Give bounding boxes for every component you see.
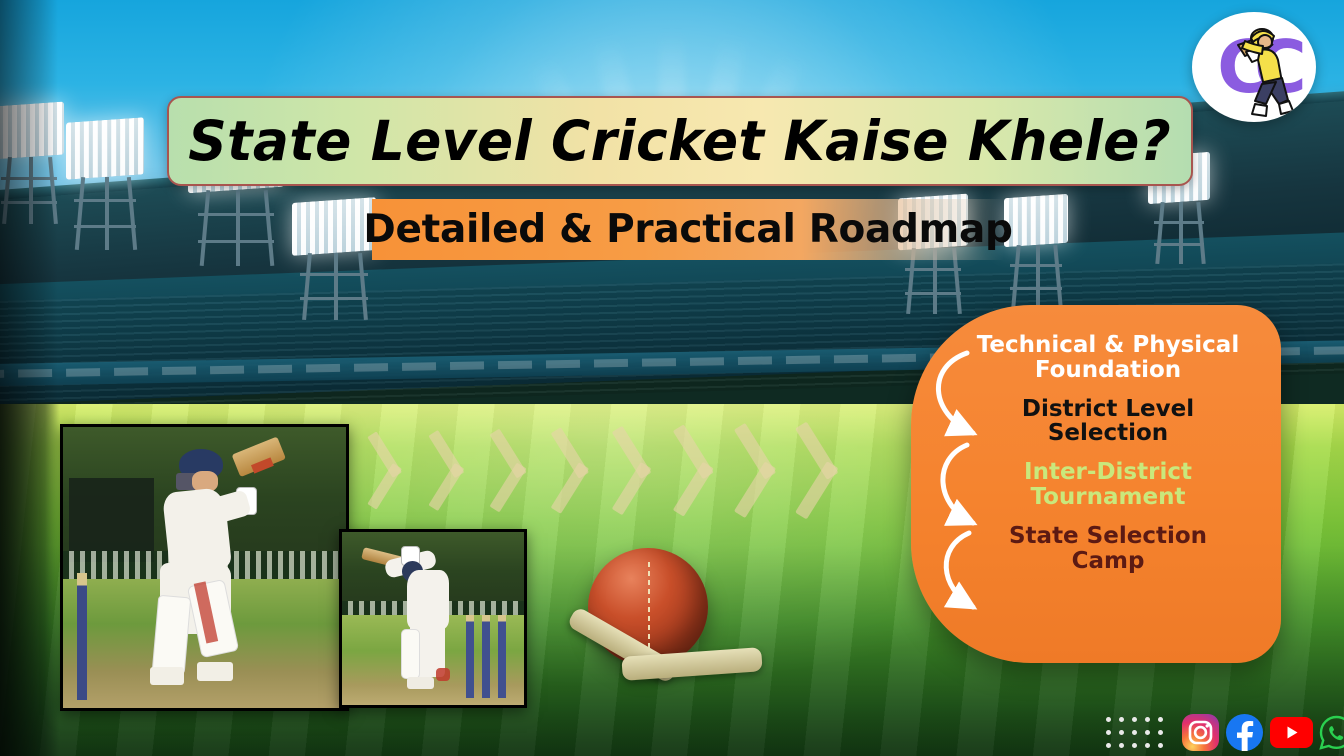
ad-tick	[738, 356, 772, 365]
grid-dot	[1158, 730, 1163, 735]
grid-dot	[1145, 717, 1150, 722]
grid-dot	[1106, 717, 1111, 722]
ad-tick	[0, 370, 4, 379]
roadmap-step: District LevelSelection	[955, 397, 1261, 447]
youtube-icon[interactable]	[1270, 717, 1313, 748]
roadmap-panel: Technical & PhysicalFoundationDistrict L…	[911, 305, 1281, 663]
cc-cricket-logo[interactable]: CC	[1192, 12, 1316, 122]
whatsapp-icon[interactable]	[1318, 714, 1344, 751]
ad-tick	[642, 358, 676, 367]
floodlight-tower	[0, 104, 64, 224]
batsman-figure	[142, 449, 272, 685]
ad-tick	[354, 363, 388, 372]
page-title: State Level Cricket Kaise Khele?	[189, 109, 1172, 173]
chevron-icon	[826, 416, 838, 525]
chevron-icon	[392, 427, 402, 514]
ad-tick	[210, 366, 244, 375]
ad-tick	[882, 354, 916, 363]
ad-tick	[690, 357, 724, 366]
floodlight-tower	[1004, 196, 1068, 308]
grid-dot	[1145, 730, 1150, 735]
chevron-icon	[640, 421, 651, 521]
roadmap-step-line2: Foundation	[955, 358, 1261, 383]
ad-tick	[306, 364, 340, 373]
floodlight-tower	[66, 120, 144, 250]
grid-dot	[1106, 743, 1111, 748]
roadmap-step: State SelectionCamp	[955, 524, 1261, 574]
batsman-figure	[389, 546, 469, 695]
chevron-icon	[764, 417, 776, 523]
left-shadow-band-lower	[0, 404, 60, 756]
roadmap-step: Technical & PhysicalFoundation	[955, 333, 1261, 383]
ad-tick	[66, 368, 100, 377]
chevron-icon	[578, 422, 589, 519]
ad-tick	[498, 361, 532, 370]
dot-grid-icon	[1106, 717, 1168, 749]
grid-dot	[1132, 730, 1137, 735]
ad-tick	[786, 356, 820, 365]
instagram-icon[interactable]	[1182, 714, 1219, 751]
ad-tick	[402, 362, 436, 371]
ad-tick	[18, 369, 52, 378]
roadmap-step-line2: Selection	[955, 421, 1261, 446]
chevron-icon	[454, 425, 464, 515]
thumbnail-canvas: State Level Cricket Kaise Khele? Detaile…	[0, 0, 1344, 756]
subtitle-banner: Detailed & Practical Roadmap	[372, 199, 1004, 260]
ad-tick	[1314, 346, 1344, 355]
roadmap-step-line1: State Selection	[1009, 523, 1207, 549]
grid-dot	[1119, 730, 1124, 735]
stump	[77, 573, 87, 699]
ad-tick	[114, 367, 148, 376]
ad-tick	[162, 366, 196, 375]
cricket-ball-and-bails	[560, 548, 770, 738]
ad-tick	[594, 359, 628, 368]
grid-dot	[1119, 743, 1124, 748]
grid-dot	[1158, 717, 1163, 722]
main-title-box: State Level Cricket Kaise Khele?	[167, 96, 1193, 186]
roadmap-step: Inter-DistrictTournament	[955, 460, 1261, 510]
roadmap-step-line1: District Level	[1022, 396, 1194, 422]
ad-tick	[258, 365, 292, 374]
stumps	[466, 615, 513, 698]
grid-dot	[1132, 717, 1137, 722]
grid-dot	[1132, 743, 1137, 748]
social-links-bar	[1098, 709, 1344, 756]
ad-tick	[450, 361, 484, 370]
grid-dot	[1119, 717, 1124, 722]
batsman-cut-shot-photo	[60, 424, 349, 711]
chevron-icon	[516, 424, 527, 517]
roadmap-step-line2: Camp	[955, 549, 1261, 574]
grid-dot	[1145, 743, 1150, 748]
roadmap-step-line1: Inter-District	[1024, 459, 1192, 485]
chevron-icon	[702, 419, 714, 522]
roadmap-step-list: Technical & PhysicalFoundationDistrict L…	[955, 333, 1261, 588]
roadmap-step-line2: Tournament	[955, 485, 1261, 510]
page-subtitle: Detailed & Practical Roadmap	[363, 207, 1012, 252]
grid-dot	[1106, 730, 1111, 735]
batsman-follow-through-photo	[339, 529, 527, 708]
batsman-logo-icon	[1192, 12, 1316, 122]
grid-dot	[1158, 743, 1163, 748]
ad-tick	[834, 355, 868, 364]
chevron-arrow-row	[330, 418, 910, 523]
ad-tick	[546, 360, 580, 369]
roadmap-step-line1: Technical & Physical	[977, 332, 1239, 358]
facebook-icon[interactable]	[1226, 714, 1263, 751]
